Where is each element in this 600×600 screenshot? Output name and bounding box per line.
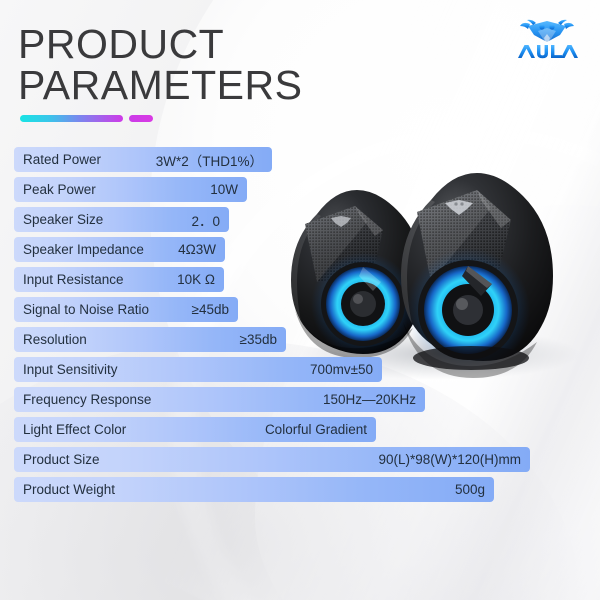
spec-row: Speaker Size2．0 [14,207,229,232]
spec-row: Resolution≥35db [14,327,286,352]
aula-logo [506,12,588,60]
spec-label: Speaker Size [23,212,103,227]
spec-value: 700mv±50 [296,362,373,377]
accent-dash [129,115,153,122]
spec-value: 90(L)*98(W)*120(H)mm [364,452,521,467]
spec-value: 150Hz—20KHz [309,392,416,407]
spec-row: Speaker Impedance4Ω3W [14,237,225,262]
spec-row: Product Size90(L)*98(W)*120(H)mm [14,447,530,472]
spec-label: Input Resistance [23,272,124,287]
spec-value: 10K Ω [163,272,215,287]
spec-value: Colorful Gradient [251,422,367,437]
spec-value: 500g [441,482,485,497]
spec-row: Input Resistance10K Ω [14,267,224,292]
spec-value: 4Ω3W [164,242,216,257]
spec-row: Input Sensitivity700mv±50 [14,357,382,382]
spec-row: Signal to Noise Ratio≥45db [14,297,238,322]
spec-label: Product Size [23,452,100,467]
page-title-line-1: PRODUCT [18,24,348,65]
spec-label: Input Sensitivity [23,362,118,377]
spec-row: Rated Power3W*2（THD1%） [14,147,272,172]
spec-label: Light Effect Color [23,422,126,437]
spec-label: Frequency Response [23,392,151,407]
spec-value: 3W*2（THD1%） [142,150,263,170]
spec-value: ≥45db [178,302,229,317]
spec-value: ≥35db [226,332,277,347]
spec-label: Peak Power [23,182,96,197]
spec-table: Rated Power3W*2（THD1%）Peak Power10WSpeak… [14,147,574,507]
spec-row: Light Effect ColorColorful Gradient [14,417,376,442]
spec-row: Peak Power10W [14,177,247,202]
aula-spider-diamond-icon [506,12,588,60]
product-parameters-page: PRODUCT PARAMETERS [0,0,600,600]
spec-label: Speaker Impedance [23,242,144,257]
spec-row: Frequency Response150Hz—20KHz [14,387,425,412]
accent-bar-gradient [20,115,123,122]
spec-label: Rated Power [23,152,101,167]
spec-row: Product Weight500g [14,477,494,502]
spec-value: 2．0 [177,210,220,230]
spec-label: Resolution [23,332,87,347]
spec-value: 10W [196,182,238,197]
spec-label: Product Weight [23,482,115,497]
spec-label: Signal to Noise Ratio [23,302,149,317]
